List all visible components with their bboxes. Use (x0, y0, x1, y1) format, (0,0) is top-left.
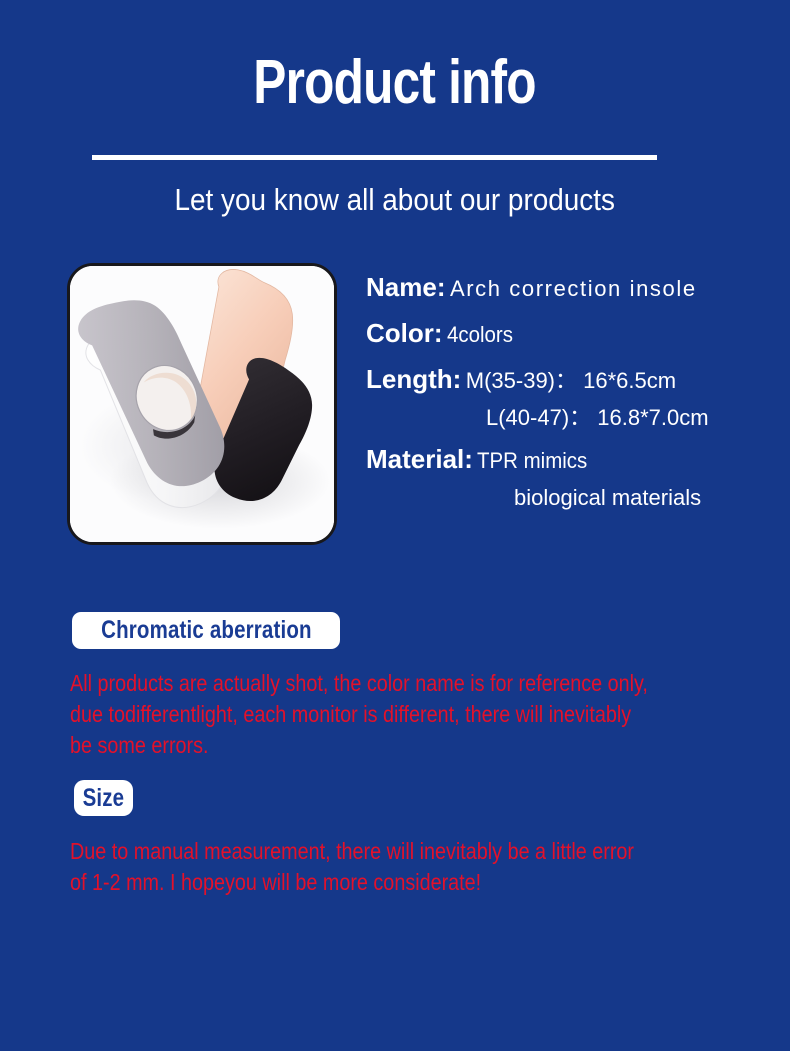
note-line-text: Due to manual measurement, there will in… (70, 836, 634, 867)
note-line: be some errors. (70, 730, 750, 761)
spec-row-material: Material: TPR mimics (366, 444, 786, 479)
note-line-text: be some errors. (70, 730, 209, 761)
header-divider (92, 155, 657, 160)
spec-value-color: 4colors (447, 320, 513, 350)
badge-size-label: Size (83, 784, 125, 813)
spec-value-material: TPR mimics (477, 446, 587, 476)
insoles-illustration (70, 266, 334, 542)
spec-row-length: Length: M(35-39)： 16*6.5cm (366, 364, 786, 399)
page-title: Product info (0, 52, 790, 114)
badge-size: Size (74, 780, 133, 816)
note-line-text: due todifferentlight, each monitor is di… (70, 699, 631, 730)
page-subtitle: Let you know all about our products (0, 181, 790, 219)
spec-value-length-m: M(35-39)： 16*6.5cm (466, 368, 676, 393)
spec-list: Name: Arch correction insole Color: 4col… (366, 272, 786, 524)
page-subtitle-text: Let you know all about our products (175, 181, 615, 219)
product-photo-background (70, 266, 334, 542)
spec-value-material-cont: biological materials (366, 483, 786, 513)
product-info-page: Product info Let you know all about our … (0, 0, 790, 1051)
note-line: of 1-2 mm. I hopeyou will be more consid… (70, 867, 750, 898)
product-photo (67, 263, 337, 545)
note-size: Due to manual measurement, there will in… (70, 836, 750, 898)
spec-row-name: Name: Arch correction insole (366, 272, 786, 307)
note-line-text: All products are actually shot, the colo… (70, 668, 648, 699)
badge-chromatic-aberration: Chromatic aberration (72, 612, 340, 649)
spec-value-name: Arch correction insole (450, 276, 697, 301)
spec-value-length-l: L(40-47)： 16.8*7.0cm (366, 403, 786, 433)
spec-label-name: Name: (366, 272, 445, 302)
spec-label-material: Material: (366, 444, 473, 474)
note-line: All products are actually shot, the colo… (70, 668, 750, 699)
spec-label-color: Color: (366, 318, 443, 348)
badge-chromatic-aberration-label: Chromatic aberration (101, 616, 312, 645)
note-chromatic-aberration: All products are actually shot, the colo… (70, 668, 750, 761)
spec-row-color: Color: 4colors (366, 318, 786, 353)
note-line: due todifferentlight, each monitor is di… (70, 699, 750, 730)
spec-label-length: Length: (366, 364, 461, 394)
page-title-text: Product info (254, 52, 536, 114)
note-line: Due to manual measurement, there will in… (70, 836, 750, 867)
note-line-text: of 1-2 mm. I hopeyou will be more consid… (70, 867, 481, 898)
